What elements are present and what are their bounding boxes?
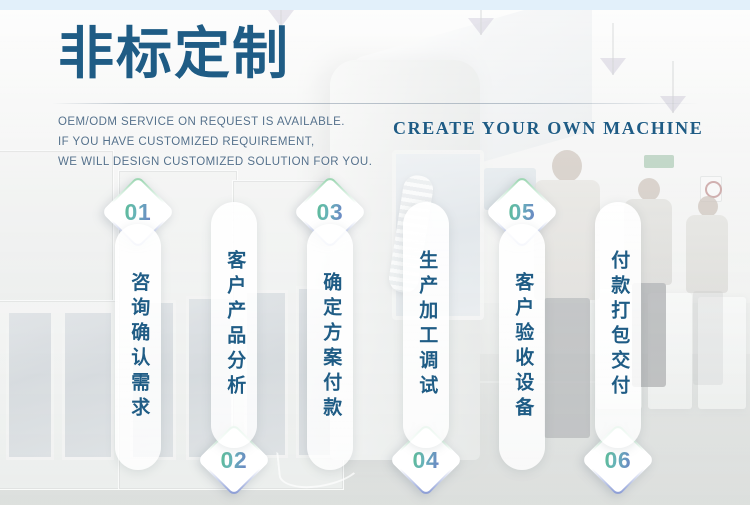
process-step-04[interactable]: 04 生产加工调试 <box>378 186 474 486</box>
step-number-06: 06 <box>605 447 632 474</box>
step-pill-05: 客户验收设备 <box>499 224 545 470</box>
tagline: CREATE YOUR OWN MACHINE <box>393 118 703 139</box>
header-divider <box>52 103 700 104</box>
top-accent-strip <box>0 0 750 10</box>
step-number-03: 03 <box>317 199 344 226</box>
subtitle-block: OEM/ODM SERVICE ON REQUEST IS AVAILABLE.… <box>58 112 372 172</box>
step-label-04: 生产加工调试 <box>415 250 437 400</box>
step-label-03: 确定方案付款 <box>319 272 341 422</box>
step-number-04: 04 <box>413 447 440 474</box>
step-label-05: 客户验收设备 <box>511 272 533 422</box>
subtitle-line-2: IF YOU HAVE CUSTOMIZED REQUIREMENT, <box>58 132 372 152</box>
process-step-03[interactable]: 03 确定方案付款 <box>282 186 378 486</box>
step-pill-02: 客户产品分析 <box>211 202 257 448</box>
step-number-02: 02 <box>221 447 248 474</box>
process-step-06[interactable]: 06 付款打包交付 <box>570 186 666 486</box>
custom-machine-banner: 非标定制 OEM/ODM SERVICE ON REQUEST IS AVAIL… <box>0 0 750 505</box>
step-label-01: 咨询确认需求 <box>127 272 149 422</box>
page-title: 非标定制 <box>58 26 290 82</box>
subtitle-line-3: WE WILL DESIGN CUSTOMIZED SOLUTION FOR Y… <box>58 152 372 172</box>
step-number-05: 05 <box>509 199 536 226</box>
subtitle-line-1: OEM/ODM SERVICE ON REQUEST IS AVAILABLE. <box>58 112 372 132</box>
process-step-05[interactable]: 05 客户验收设备 <box>474 186 570 486</box>
step-label-02: 客户产品分析 <box>223 250 245 400</box>
process-step-01[interactable]: 01 咨询确认需求 <box>90 186 186 486</box>
step-label-06: 付款打包交付 <box>607 250 629 400</box>
step-pill-06: 付款打包交付 <box>595 202 641 448</box>
step-pill-03: 确定方案付款 <box>307 224 353 470</box>
step-pill-04: 生产加工调试 <box>403 202 449 448</box>
step-number-01: 01 <box>125 199 152 226</box>
process-step-02[interactable]: 02 客户产品分析 <box>186 186 282 486</box>
process-steps: 01 咨询确认需求 02 客户产品分析 <box>0 186 750 486</box>
step-pill-01: 咨询确认需求 <box>115 224 161 470</box>
